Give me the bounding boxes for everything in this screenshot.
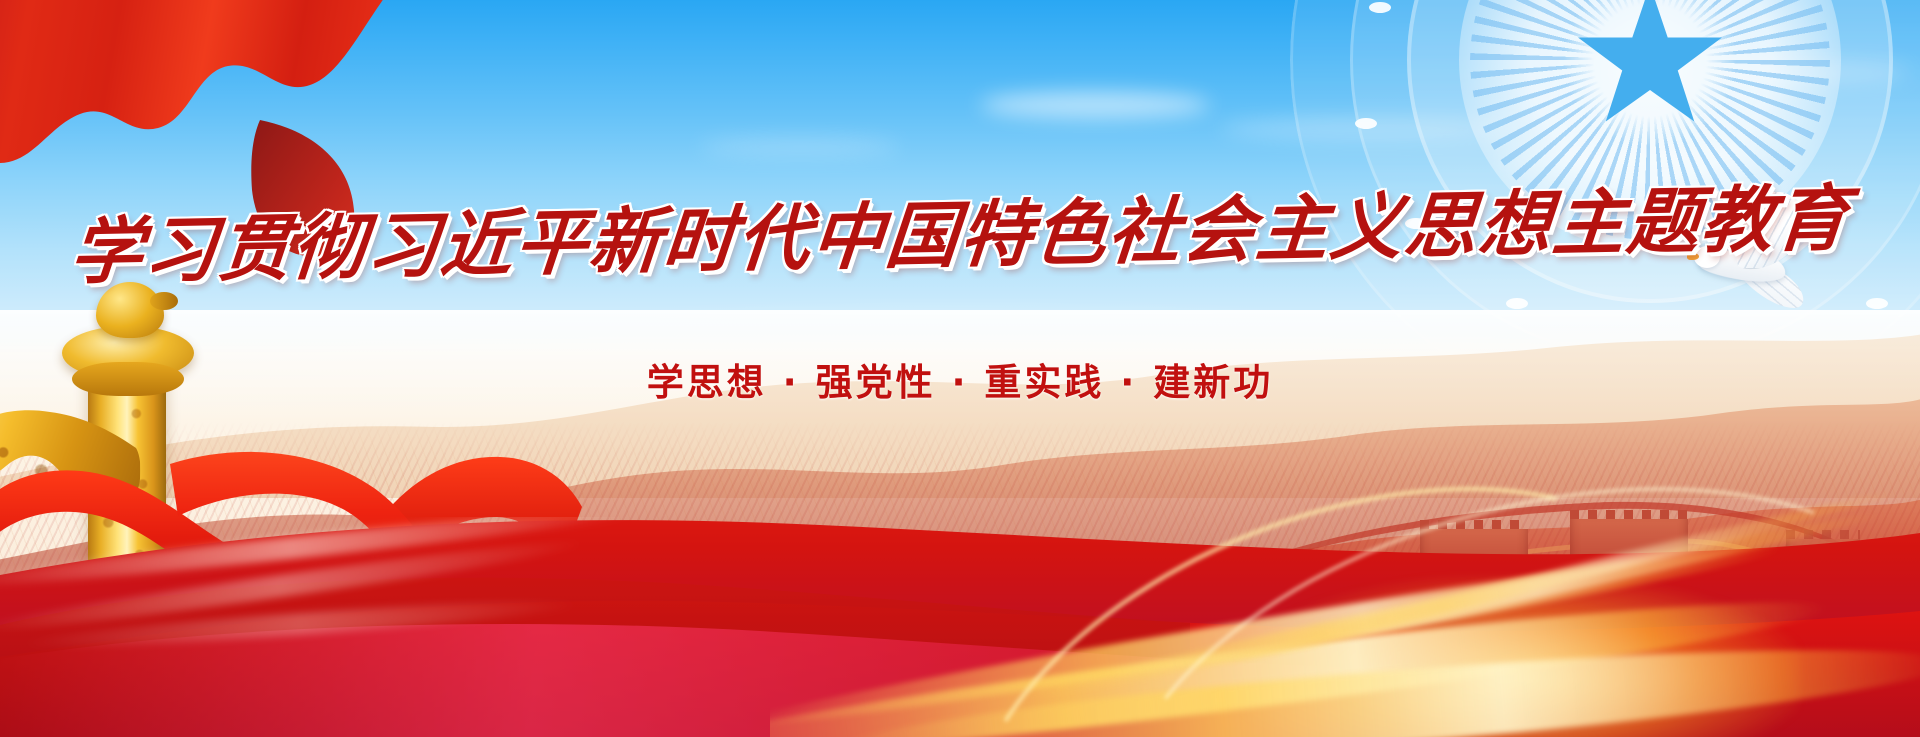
- left-light-streaks: [0, 517, 760, 697]
- cloud-icon: [700, 138, 900, 156]
- cloud-icon: [980, 92, 1210, 118]
- propaganda-banner: 学习贯彻习近平新时代中国特色社会主义思想主题教育 学思想 · 强党性 · 重实践…: [0, 0, 1920, 737]
- golden-light-streaks: [770, 437, 1920, 737]
- peace-dove-icon: [1694, 198, 1814, 308]
- subtitle: 学思想 · 强党性 · 重实践 · 建新功: [0, 352, 1920, 406]
- dove-beak: [1687, 253, 1699, 260]
- dove-upper-wing: [1730, 192, 1804, 268]
- pillar-mythical-beast-icon: [96, 282, 164, 338]
